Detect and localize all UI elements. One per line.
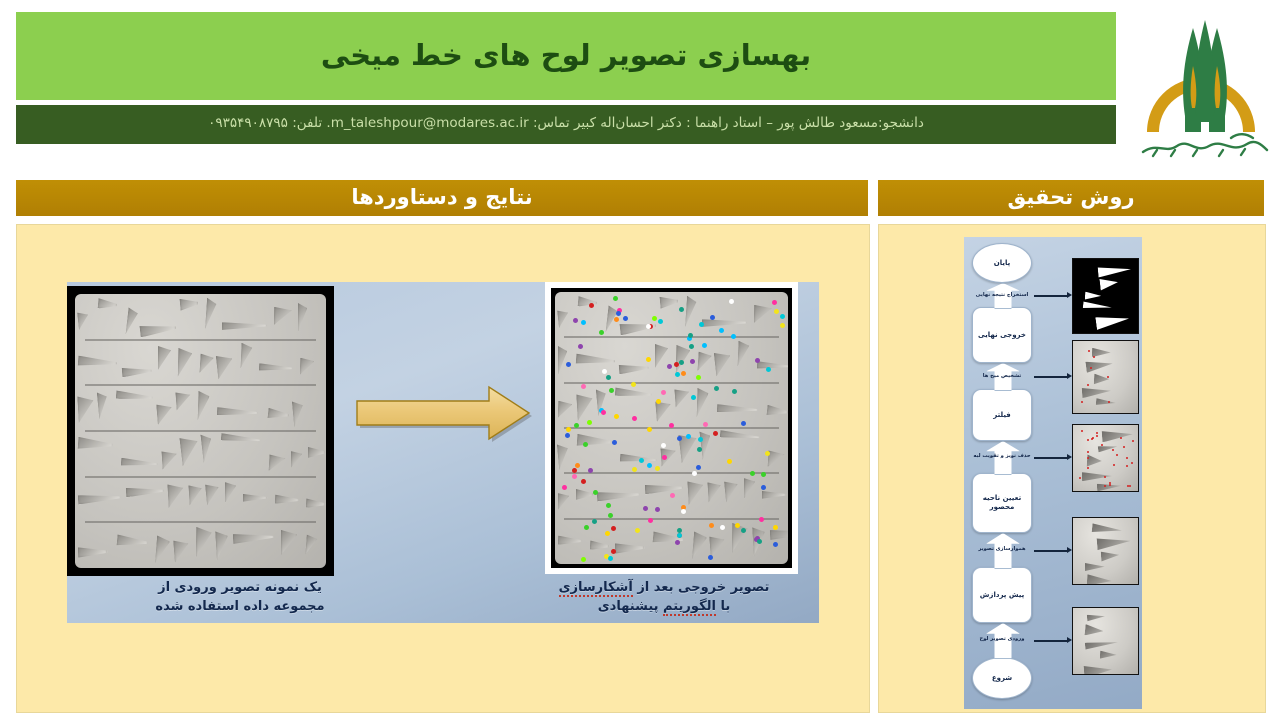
thumbnail-detection-dot — [1126, 465, 1128, 467]
cuneiform-wedge — [298, 303, 307, 331]
authors-bar: دانشجو:مسعود طالش پور – استاد راهنما : د… — [16, 105, 1116, 144]
cuneiform-wedge — [125, 308, 138, 336]
cuneiform-wedge — [139, 322, 176, 337]
flow-node-end: پایان — [972, 243, 1032, 283]
cuneiform-wedge — [697, 388, 709, 418]
thumbnail-wedge — [1082, 471, 1112, 480]
section-header-results: نتایج و دستاوردها — [16, 180, 868, 216]
detected-wedge-marker — [759, 517, 764, 522]
output-tablet-frame — [545, 282, 798, 574]
flow-thumbnail-smoothed — [1072, 517, 1139, 585]
detected-wedge-marker — [566, 362, 571, 367]
cuneiform-wedge — [576, 489, 593, 500]
detected-wedge-marker — [773, 525, 778, 530]
flow-node-label: فیلتر — [993, 411, 1011, 420]
detected-wedge-marker — [679, 307, 684, 312]
output-caption-line1-b: آشکارسازی — [559, 580, 633, 597]
thumbnail-detection-dot — [1108, 401, 1110, 403]
cuneiform-wedge — [268, 454, 285, 471]
detected-wedge-marker — [731, 334, 736, 339]
detected-wedge-marker — [652, 316, 657, 321]
cuneiform-wedge — [767, 405, 788, 417]
detected-wedge-marker — [581, 384, 586, 389]
cuneiform-wedge — [619, 363, 649, 374]
input-image-caption: یک نمونه تصویر ورودی از مجموعه داده استف… — [125, 579, 355, 617]
flow-thumbnail-detected-tips — [1072, 340, 1139, 414]
detected-wedge-marker — [692, 471, 697, 476]
thumbnail-wedge — [1091, 523, 1122, 535]
detected-wedge-marker — [614, 317, 619, 322]
thumbnail-detection-dot — [1116, 454, 1118, 456]
detected-wedge-marker — [674, 362, 679, 367]
cuneiform-wedge — [300, 358, 315, 375]
detected-wedge-marker — [703, 422, 708, 427]
university-logo — [1135, 4, 1275, 164]
cuneiform-wedge — [713, 351, 732, 376]
detected-wedge-marker — [643, 506, 648, 511]
detected-wedge-marker — [647, 427, 652, 432]
cuneiform-wedge — [96, 391, 108, 419]
thumbnail-detection-dot — [1093, 356, 1095, 358]
flow-node-output: خروجی نهایی — [972, 307, 1032, 363]
cuneiform-wedge — [589, 540, 609, 550]
detected-wedge-marker — [655, 507, 660, 512]
detected-wedge-marker — [761, 472, 766, 477]
cuneiform-wedge — [188, 485, 202, 506]
cuneiform-wedge — [716, 404, 757, 414]
transformation-arrow — [352, 382, 532, 444]
detected-wedge-marker — [562, 485, 567, 490]
cuneiform-wedge — [615, 388, 652, 399]
thumbnail-wedge — [1102, 428, 1134, 442]
cuneiform-wedge — [280, 530, 296, 555]
detected-wedge-marker — [581, 320, 586, 325]
detected-wedge-marker — [773, 542, 778, 547]
flow-node-label: خروجی نهایی — [978, 331, 1026, 340]
cuneiform-wedge — [557, 443, 570, 470]
thumbnail-detection-dot — [1132, 440, 1134, 442]
cuneiform-wedge — [724, 480, 739, 502]
detected-wedge-marker — [713, 431, 718, 436]
thumbnail-wedge — [1086, 574, 1111, 585]
cuneiform-wedge — [162, 450, 178, 469]
tablet-rule-line — [564, 336, 778, 338]
detected-wedge-marker — [609, 388, 614, 393]
detected-wedge-marker — [648, 518, 653, 523]
detected-wedge-marker — [578, 344, 583, 349]
flow-node-start: شروع — [972, 657, 1032, 699]
page-title: بهسازی تصویر لوح های خط میخی — [321, 38, 811, 72]
input-tablet-image — [67, 286, 334, 576]
flow-thumbnail-noisy-points — [1072, 424, 1139, 492]
thumbnail-detection-dot — [1126, 457, 1128, 459]
detected-wedge-marker — [719, 328, 724, 333]
thumbnail-wedge — [1085, 292, 1101, 301]
cuneiform-wedge — [305, 534, 317, 555]
detected-wedge-marker — [667, 364, 672, 369]
detected-wedge-marker — [708, 555, 713, 560]
detected-wedge-marker — [686, 434, 691, 439]
cuneiform-wedge — [221, 433, 261, 444]
detected-wedge-marker — [573, 318, 578, 323]
output-tablet-inner-border — [551, 288, 792, 568]
cuneiform-wedge — [699, 431, 712, 461]
thumbnail-surface — [1073, 259, 1138, 333]
cuneiform-wedge — [708, 481, 722, 502]
thumbnail-detection-dot — [1123, 446, 1125, 448]
logo-wordmark — [1143, 134, 1267, 156]
thumbnail-detection-dot — [1087, 467, 1089, 469]
output-caption-line2: با الگوریتم پیشنهادی — [535, 598, 793, 617]
detected-wedge-marker — [623, 316, 628, 321]
flow-arrow-label-3: حذف نویز و تقویت لبه — [972, 453, 1032, 460]
logo-leaf-group — [1183, 20, 1227, 122]
thumbnail-surface — [1073, 425, 1138, 491]
cuneiform-wedge — [240, 343, 252, 369]
thumbnail-detection-dot — [1113, 464, 1115, 466]
output-caption-line2-b: الگوریتم — [663, 599, 716, 616]
cuneiform-wedge — [732, 523, 748, 554]
detected-wedge-marker — [696, 375, 701, 380]
output-image-caption: تصویر خروجی بعد از آشکارسازی با الگوریتم… — [535, 579, 793, 617]
flow-arrow-label-4: هموارسازی تصویر — [972, 546, 1032, 553]
detected-wedge-marker — [702, 343, 707, 348]
thumbnail-wedge — [1097, 265, 1131, 278]
cuneiform-wedge — [78, 493, 121, 505]
flow-arrow-label-2: تشخیص میخ ها — [972, 373, 1032, 380]
cuneiform-wedge — [675, 389, 691, 408]
cuneiform-wedge — [597, 489, 640, 501]
detected-wedge-marker — [699, 322, 704, 327]
cuneiform-wedge — [78, 546, 108, 557]
thumbnail-wedge — [1097, 535, 1132, 550]
detected-wedge-marker — [698, 437, 703, 442]
poster-root: بهسازی تصویر لوح های خط میخی دانشجو:مسعو… — [0, 0, 1280, 720]
thumbnail-detection-dot — [1087, 457, 1089, 459]
thumbnail-wedge — [1096, 399, 1116, 408]
detected-wedge-marker — [765, 451, 770, 456]
thumbnail-detection-dot — [1104, 476, 1106, 478]
thumbnail-detection-dot — [1096, 432, 1098, 434]
detected-wedge-marker — [670, 493, 675, 498]
detected-wedge-marker — [679, 360, 684, 365]
detected-wedge-marker — [593, 490, 598, 495]
detected-wedge-marker — [635, 528, 640, 533]
detected-wedge-marker — [766, 367, 771, 372]
cuneiform-wedge — [77, 311, 89, 330]
cuneiform-wedge — [259, 363, 293, 372]
phone-number: ۰۹۳۵۴۹۰۸۷۹۵ — [208, 115, 288, 131]
detected-wedge-marker — [661, 390, 666, 395]
detected-wedge-marker — [696, 465, 701, 470]
cuneiform-wedge — [274, 494, 298, 504]
cuneiform-wedge — [116, 391, 153, 402]
detected-wedge-marker — [565, 433, 570, 438]
flow-node-filter: فیلتر — [972, 389, 1032, 441]
detected-wedge-marker — [572, 468, 577, 473]
cuneiform-wedge — [697, 352, 712, 372]
flow-node-region: تعیین ناحیه محصور — [972, 473, 1032, 533]
detected-wedge-marker — [697, 447, 702, 452]
detected-wedge-marker — [780, 323, 785, 328]
cuneiform-wedge — [306, 499, 326, 509]
thumbnail-wedge — [1100, 651, 1117, 660]
authors-line: دانشجو:مسعود طالش پور – استاد راهنما : د… — [208, 115, 924, 131]
cuneiform-wedge — [179, 436, 200, 466]
detected-wedge-marker — [757, 539, 762, 544]
detected-wedge-marker — [587, 420, 592, 425]
cuneiform-wedge — [78, 437, 113, 451]
detected-wedge-marker — [611, 549, 616, 554]
thumbnail-detection-dot — [1092, 437, 1094, 439]
output-caption-line2-c: پیشنهادی — [598, 599, 663, 614]
student-label: دانشجو: — [878, 115, 924, 131]
detected-wedge-marker — [581, 479, 586, 484]
thumbnail-wedge — [1085, 358, 1113, 373]
thumbnail-detection-dot — [1090, 367, 1092, 369]
cuneiform-wedge — [692, 532, 708, 561]
tablet-rule-line — [564, 472, 778, 474]
detected-wedge-marker — [780, 314, 785, 319]
research-method-flowchart: پایانخروجی نهاییفیلترتعیین ناحیه محصورپی… — [964, 237, 1142, 709]
cuneiform-wedge — [125, 486, 163, 497]
cuneiform-wedge — [205, 298, 217, 330]
thumbnail-wedge — [1085, 563, 1105, 571]
detected-wedge-marker — [772, 300, 777, 305]
detected-wedge-marker — [774, 309, 779, 314]
thumbnail-wedge — [1100, 551, 1119, 562]
section-header-results-label: نتایج و دستاوردها — [351, 185, 532, 209]
flow-arrow-label-1: استخراج نتیجه نهایی — [972, 292, 1032, 299]
thumbnail-wedge — [1083, 302, 1112, 311]
cuneiform-wedge — [168, 484, 185, 508]
cuneiform-wedge — [744, 478, 756, 499]
tablet-rule-line — [85, 476, 316, 478]
cuneiform-wedge — [205, 484, 220, 506]
thumbnail-detection-dot — [1127, 485, 1129, 487]
cuneiform-wedge — [216, 354, 235, 379]
contact-label: تماس: — [533, 115, 570, 131]
detected-wedge-marker — [612, 440, 617, 445]
detected-wedge-marker — [750, 471, 755, 476]
detected-wedge-marker — [646, 324, 651, 329]
output-tablet-surface — [555, 292, 788, 564]
detected-wedge-marker — [592, 519, 597, 524]
detected-wedge-marker — [599, 330, 604, 335]
flow-thumbnail-binary-mask — [1072, 258, 1139, 334]
cuneiform-wedge — [121, 457, 158, 467]
detected-wedge-marker — [689, 344, 694, 349]
detected-wedge-marker — [647, 463, 652, 468]
cuneiform-wedge — [215, 531, 229, 561]
tablet-rule-line — [85, 339, 316, 341]
detected-wedge-marker — [720, 525, 725, 530]
detected-wedge-marker — [616, 311, 621, 316]
cuneiform-wedge — [655, 344, 668, 368]
detected-wedge-marker — [606, 503, 611, 508]
tablet-rule-line — [85, 384, 316, 386]
cuneiform-wedge — [233, 532, 274, 544]
thumbnail-wedge — [1082, 386, 1112, 398]
student-name: مسعود طالش پور — [777, 115, 878, 131]
cuneiform-wedge — [720, 430, 760, 441]
thumbnail-detection-dot — [1081, 401, 1083, 403]
cuneiform-wedge — [97, 298, 117, 310]
detected-wedge-marker — [658, 319, 663, 324]
detected-wedge-marker — [675, 540, 680, 545]
detected-wedge-marker — [727, 459, 732, 464]
flow-connector-line — [1034, 376, 1068, 378]
tablet-rule-line — [85, 521, 316, 523]
thumbnail-detection-dot — [1081, 430, 1083, 432]
flow-node-label: تعیین ناحیه محصور — [974, 494, 1030, 512]
cuneiform-wedge — [577, 296, 597, 308]
cuneiform-wedge — [558, 401, 573, 418]
cuneiform-wedge — [738, 341, 750, 367]
thumbnail-detection-dot — [1101, 444, 1103, 446]
output-tablet-image — [545, 282, 798, 574]
detected-wedge-marker — [761, 485, 766, 490]
detected-wedge-marker — [583, 442, 588, 447]
cuneiform-wedge — [576, 393, 593, 420]
detected-wedge-marker — [690, 359, 695, 364]
cuneiform-wedge — [274, 307, 292, 325]
cuneiform-wedge — [198, 390, 210, 420]
thumbnail-detection-dot — [1087, 384, 1089, 386]
cuneiform-wedge — [200, 434, 213, 464]
poster-title-bar: بهسازی تصویر لوح های خط میخی — [16, 12, 1116, 100]
flow-arrow-label-5: ورودی تصویر لوح — [972, 636, 1032, 643]
cuneiform-wedge — [614, 542, 644, 553]
tablet-rule-line — [564, 382, 778, 384]
thumbnail-detection-dot — [1087, 439, 1089, 441]
input-caption-line2: مجموعه داده استفاده شده — [125, 598, 355, 617]
detected-wedge-marker — [709, 523, 714, 528]
cuneiform-wedge — [121, 366, 151, 377]
detected-wedge-marker — [681, 371, 686, 376]
results-panel: یک نمونه تصویر ورودی از مجموعه داده استف… — [16, 224, 870, 713]
thumbnail-wedge — [1083, 664, 1112, 675]
detected-wedge-marker — [605, 531, 610, 536]
cuneiform-wedge — [687, 481, 704, 505]
cuneiform-wedge — [116, 535, 148, 549]
detected-wedge-marker — [631, 382, 636, 387]
detected-wedge-marker — [639, 458, 644, 463]
thumbnail-detection-dot — [1131, 462, 1133, 464]
detected-wedge-marker — [601, 410, 606, 415]
detected-wedge-marker — [729, 299, 734, 304]
cuneiform-wedge — [156, 404, 173, 425]
cuneiform-wedge — [200, 354, 215, 374]
cuneiform-wedge — [292, 401, 305, 428]
thumbnail-wedge — [1087, 613, 1106, 621]
thumbnail-surface — [1073, 341, 1138, 413]
cuneiform-wedge — [702, 319, 747, 327]
thumbnail-wedge — [1084, 624, 1104, 637]
thumbnail-surface — [1073, 608, 1138, 674]
cuneiform-wedge — [685, 296, 697, 328]
detected-wedge-marker — [602, 369, 607, 374]
detected-wedge-marker — [572, 474, 577, 479]
cuneiform-wedge — [177, 348, 192, 377]
cuneiform-wedge — [176, 392, 192, 411]
cuneiform-wedge — [577, 433, 612, 447]
detected-wedge-marker — [691, 395, 696, 400]
output-caption-line1: تصویر خروجی بعد از آشکارسازی — [535, 579, 793, 598]
detected-wedge-marker — [584, 525, 589, 530]
detected-wedge-marker — [581, 557, 586, 562]
detected-wedge-marker — [675, 372, 680, 377]
input-tablet-frame — [67, 286, 334, 576]
advisor-label: استاد راهنما : — [686, 115, 762, 131]
phone-label: تلفن: — [292, 115, 322, 131]
flow-thumbnail-original-crop — [1072, 607, 1139, 675]
detected-wedge-marker — [611, 526, 616, 531]
results-figure: یک نمونه تصویر ورودی از مجموعه داده استف… — [67, 282, 819, 623]
flow-node-label: پیش پردازش — [980, 591, 1024, 600]
detected-wedge-marker — [661, 443, 666, 448]
detected-wedge-marker — [646, 357, 651, 362]
flow-connector-line — [1034, 457, 1068, 459]
cuneiform-wedge — [770, 528, 788, 540]
cuneiform-wedge — [217, 407, 258, 417]
detected-wedge-marker — [608, 556, 613, 561]
flow-node-label: پایان — [994, 259, 1011, 268]
contact-email[interactable]: m_taleshpour@modares.ac.ir — [331, 115, 529, 131]
thumbnail-detection-dot — [1129, 485, 1131, 487]
thumbnail-detection-dot — [1112, 449, 1114, 451]
cuneiform-wedge — [557, 309, 569, 328]
tablet-rule-line — [85, 430, 316, 432]
cuneiform-wedge — [308, 447, 325, 458]
detected-wedge-marker — [677, 533, 682, 538]
cuneiform-wedge — [243, 494, 267, 502]
cuneiform-wedge — [291, 451, 302, 468]
cuneiform-wedge — [222, 321, 267, 329]
detected-wedge-marker — [741, 528, 746, 533]
cuneiform-wedge — [77, 396, 94, 423]
detected-wedge-marker — [632, 416, 637, 421]
detected-wedge-marker — [608, 513, 613, 518]
detected-wedge-marker — [681, 509, 686, 514]
flow-connector-line — [1034, 550, 1068, 552]
output-caption-line2-a: با — [716, 599, 730, 614]
section-header-method: روش تحقیق — [878, 180, 1264, 216]
cuneiform-wedge — [195, 527, 211, 558]
thumbnail-detection-dot — [1107, 376, 1109, 378]
thumbnail-wedge — [1099, 277, 1118, 290]
input-tablet-surface — [75, 294, 326, 568]
cuneiform-wedge — [575, 353, 615, 366]
advisor-name: دکتر احسان‌اله کبیر — [574, 115, 682, 131]
detected-wedge-marker — [614, 414, 619, 419]
thumbnail-detection-dot — [1088, 350, 1090, 352]
cuneiform-wedge — [179, 297, 198, 310]
cuneiform-wedge — [158, 346, 171, 370]
cuneiform-wedge — [754, 305, 772, 323]
thumbnail-detection-dot — [1096, 435, 1098, 437]
flow-connector-line — [1034, 640, 1068, 642]
cuneiform-wedge — [267, 407, 289, 419]
flow-node-preprocess: پیش پردازش — [972, 567, 1032, 623]
output-caption-line1-a: تصویر خروجی بعد از — [633, 580, 770, 595]
cuneiform-wedge — [155, 536, 171, 565]
thumbnail-detection-dot — [1079, 477, 1081, 479]
cuneiform-wedge — [173, 539, 189, 562]
cuneiform-wedge — [558, 346, 567, 374]
method-panel: پایانخروجی نهاییفیلترتعیین ناحیه محصورپی… — [878, 224, 1266, 713]
detected-wedge-marker — [710, 315, 715, 320]
